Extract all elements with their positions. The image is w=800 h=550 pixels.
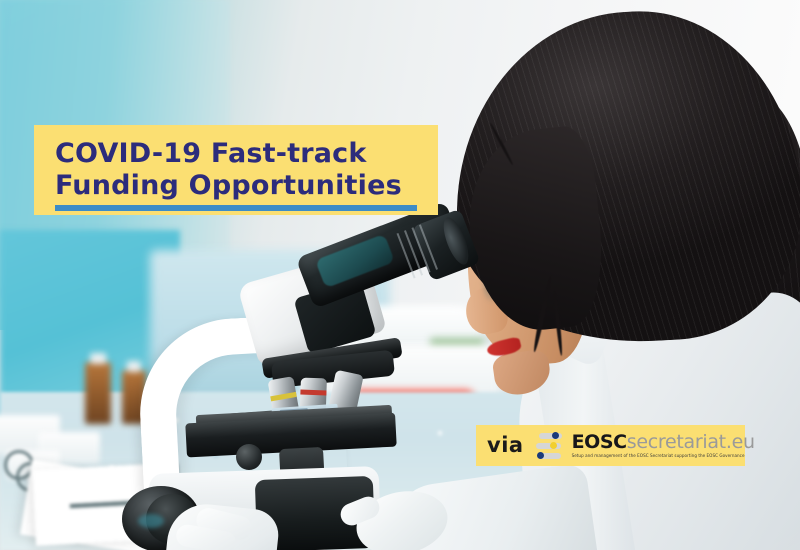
focus-knob-highlight <box>138 514 164 528</box>
eosc-wordmark-group: EOSCsecretariat.eu Setup and management … <box>572 433 755 458</box>
title-card: COVID-19 Fast-track Funding Opportunitie… <box>34 125 438 215</box>
via-label: via <box>487 435 524 456</box>
title-underline-rule <box>55 205 417 211</box>
eosc-tagline: Setup and management of the EOSC Secreta… <box>572 454 755 458</box>
title-line-1: COVID-19 Fast-track <box>55 140 367 167</box>
microscope <box>0 0 800 550</box>
covid-funding-banner: COVID-19 Fast-track Funding Opportunitie… <box>0 0 800 550</box>
microscope-stage-knob <box>236 444 262 470</box>
title-line-2: Funding Opportunities <box>55 172 402 199</box>
eosc-wordmark-light: secretariat.eu <box>627 431 755 453</box>
eosc-wordmark-bold: EOSC <box>572 431 627 453</box>
eosc-slider-mark-icon <box>536 431 562 461</box>
laboratory-photo <box>0 0 800 550</box>
eosc-secretariat-logo-card[interactable]: via EOSCsecretariat.eu Setup and managem… <box>476 425 745 466</box>
eosc-wordmark: EOSCsecretariat.eu <box>572 431 755 453</box>
